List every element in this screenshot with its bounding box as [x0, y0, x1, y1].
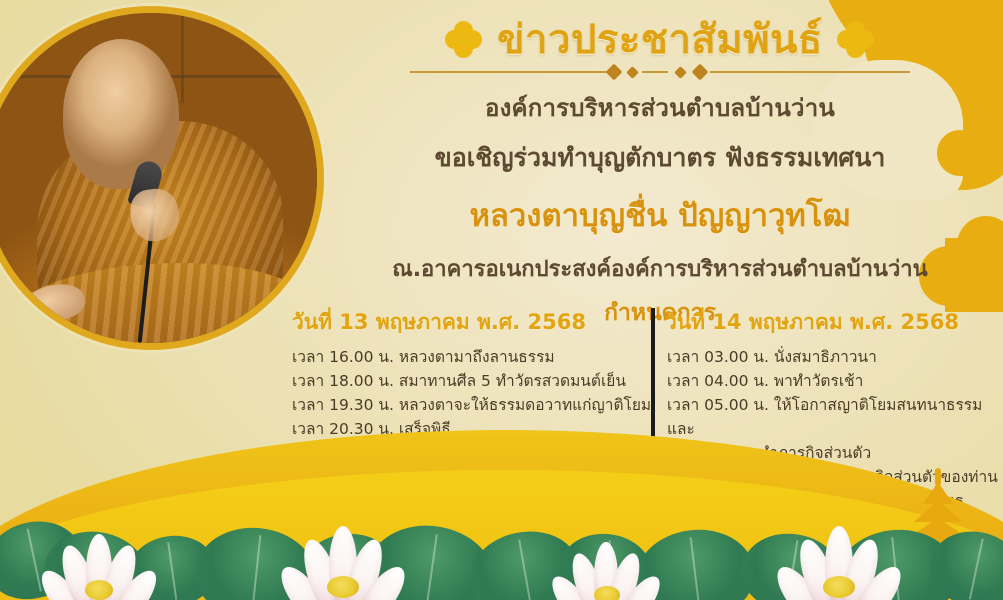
- poster-canvas: ข่าวประชาสัมพันธ์ องค์การบริหารส่วนตำบลบ…: [0, 0, 1003, 600]
- schedule-date-day2: วันที่ 14 พฤษภาคม พ.ศ. 2568: [665, 306, 992, 339]
- venue-text: ณ.อาคารอเนกประสงค์องค์การบริหารส่วนตำบลบ…: [330, 251, 990, 286]
- invitation-text: ขอเชิญร่วมทำบุญตักบาตร ฟังธรรมเทศนา: [330, 138, 990, 178]
- organization-name: องค์การบริหารส่วนตำบลบ้านว่าน: [330, 88, 990, 127]
- schedule-event: เวลา 04.00 น. พาทำวัตรเช้า: [667, 369, 992, 393]
- quatrefoil-right-icon: [839, 23, 873, 57]
- title-divider: [410, 65, 910, 79]
- monk-name: หลวงตาบุญชื่น ปัญญาวุทโฒ: [330, 190, 990, 240]
- schedule-event: เวลา 16.00 น. หลวงตามาถึงลานธรรม: [292, 345, 629, 369]
- header-block: ข่าวประชาสัมพันธ์ องค์การบริหารส่วนตำบลบ…: [330, 18, 990, 331]
- page-title: ข่าวประชาสัมพันธ์: [497, 18, 823, 62]
- monk-head: [63, 39, 179, 189]
- schedule-date-day1: วันที่ 13 พฤษภาคม พ.ศ. 2568: [292, 306, 629, 339]
- schedule-event: เวลา 19.30 น. หลวงตาจะให้ธรรมดอวาทแก่ญาต…: [292, 393, 629, 417]
- monk-photo-frame: [0, 6, 324, 350]
- monk-photo: [0, 13, 317, 343]
- schedule-event-text: เวลา 05.00 น. ให้โอกาสญาติโยมสนทนาธรรมแล…: [667, 396, 982, 438]
- photo-wall-line-vertical: [181, 13, 184, 103]
- schedule-event: เวลา 18.00 น. สมาทานศีล 5 ทำวัตรสวดมนต์เ…: [292, 369, 629, 393]
- schedule-event: เวลา 03.00 น. นั่งสมาธิภาวนา: [667, 345, 992, 369]
- title-row: ข่าวประชาสัมพันธ์: [330, 18, 990, 62]
- quatrefoil-left-icon: [447, 23, 481, 57]
- footer-fade: [0, 564, 1003, 600]
